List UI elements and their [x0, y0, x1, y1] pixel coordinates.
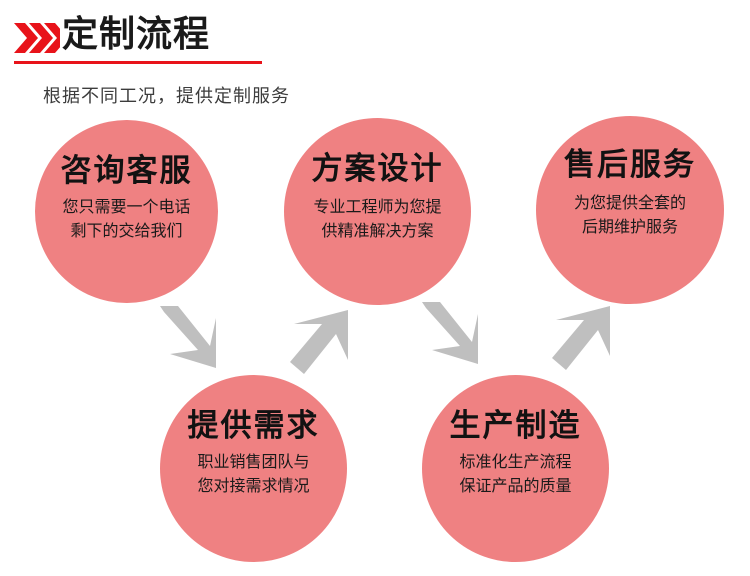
- step-body: 专业工程师为您提 供精准解决方案: [313, 196, 441, 244]
- step-body-line-1: 标准化生产流程: [459, 451, 571, 475]
- step-title: 生产制造: [450, 409, 582, 443]
- step-title: 方案设计: [312, 152, 444, 186]
- step-body-line-2: 供精准解决方案: [313, 220, 441, 244]
- arrow-up-right-icon: [550, 304, 616, 379]
- page-title: 定制流程: [62, 12, 210, 56]
- arrow-down-right-icon: [418, 300, 484, 375]
- flow-step-requirements[interactable]: 提供需求 职业销售团队与 您对接需求情况: [160, 375, 347, 562]
- flow-step-after-sales[interactable]: 售后服务 为您提供全套的 后期维护服务: [536, 116, 724, 304]
- step-body-line-1: 您只需要一个电话: [62, 196, 190, 220]
- flow-step-consultation[interactable]: 咨询客服 您只需要一个电话 剩下的交给我们: [35, 120, 218, 303]
- step-title: 售后服务: [564, 148, 696, 182]
- flow-step-design[interactable]: 方案设计 专业工程师为您提 供精准解决方案: [284, 118, 471, 305]
- step-body-line-2: 后期维护服务: [574, 216, 686, 240]
- arrow-down-right-icon: [156, 304, 222, 379]
- step-body: 标准化生产流程 保证产品的质量: [459, 451, 571, 499]
- step-title: 提供需求: [188, 409, 320, 443]
- title-underline-rule: [14, 61, 262, 64]
- step-body-line-1: 专业工程师为您提: [313, 196, 441, 220]
- flow-step-manufacturing[interactable]: 生产制造 标准化生产流程 保证产品的质量: [422, 375, 609, 562]
- step-body: 您只需要一个电话 剩下的交给我们: [62, 196, 190, 244]
- step-body-line-2: 剩下的交给我们: [62, 220, 190, 244]
- triple-chevron-right-icon: [14, 22, 60, 54]
- step-body-line-1: 职业销售团队与: [197, 451, 309, 475]
- step-body: 职业销售团队与 您对接需求情况: [197, 451, 309, 499]
- step-body-line-2: 保证产品的质量: [459, 475, 571, 499]
- step-body: 为您提供全套的 后期维护服务: [574, 192, 686, 240]
- page-subtitle: 根据不同工况，提供定制服务: [43, 82, 290, 108]
- flow-infographic: 定制流程 根据不同工况，提供定制服务 咨询客服 您只需要一个电话 剩下的交给我们…: [0, 0, 750, 576]
- step-title: 咨询客服: [61, 154, 193, 188]
- page-header: 定制流程 根据不同工况，提供定制服务: [0, 0, 750, 110]
- step-body-line-2: 您对接需求情况: [197, 475, 309, 499]
- step-body-line-1: 为您提供全套的: [574, 192, 686, 216]
- arrow-up-right-icon: [288, 308, 354, 383]
